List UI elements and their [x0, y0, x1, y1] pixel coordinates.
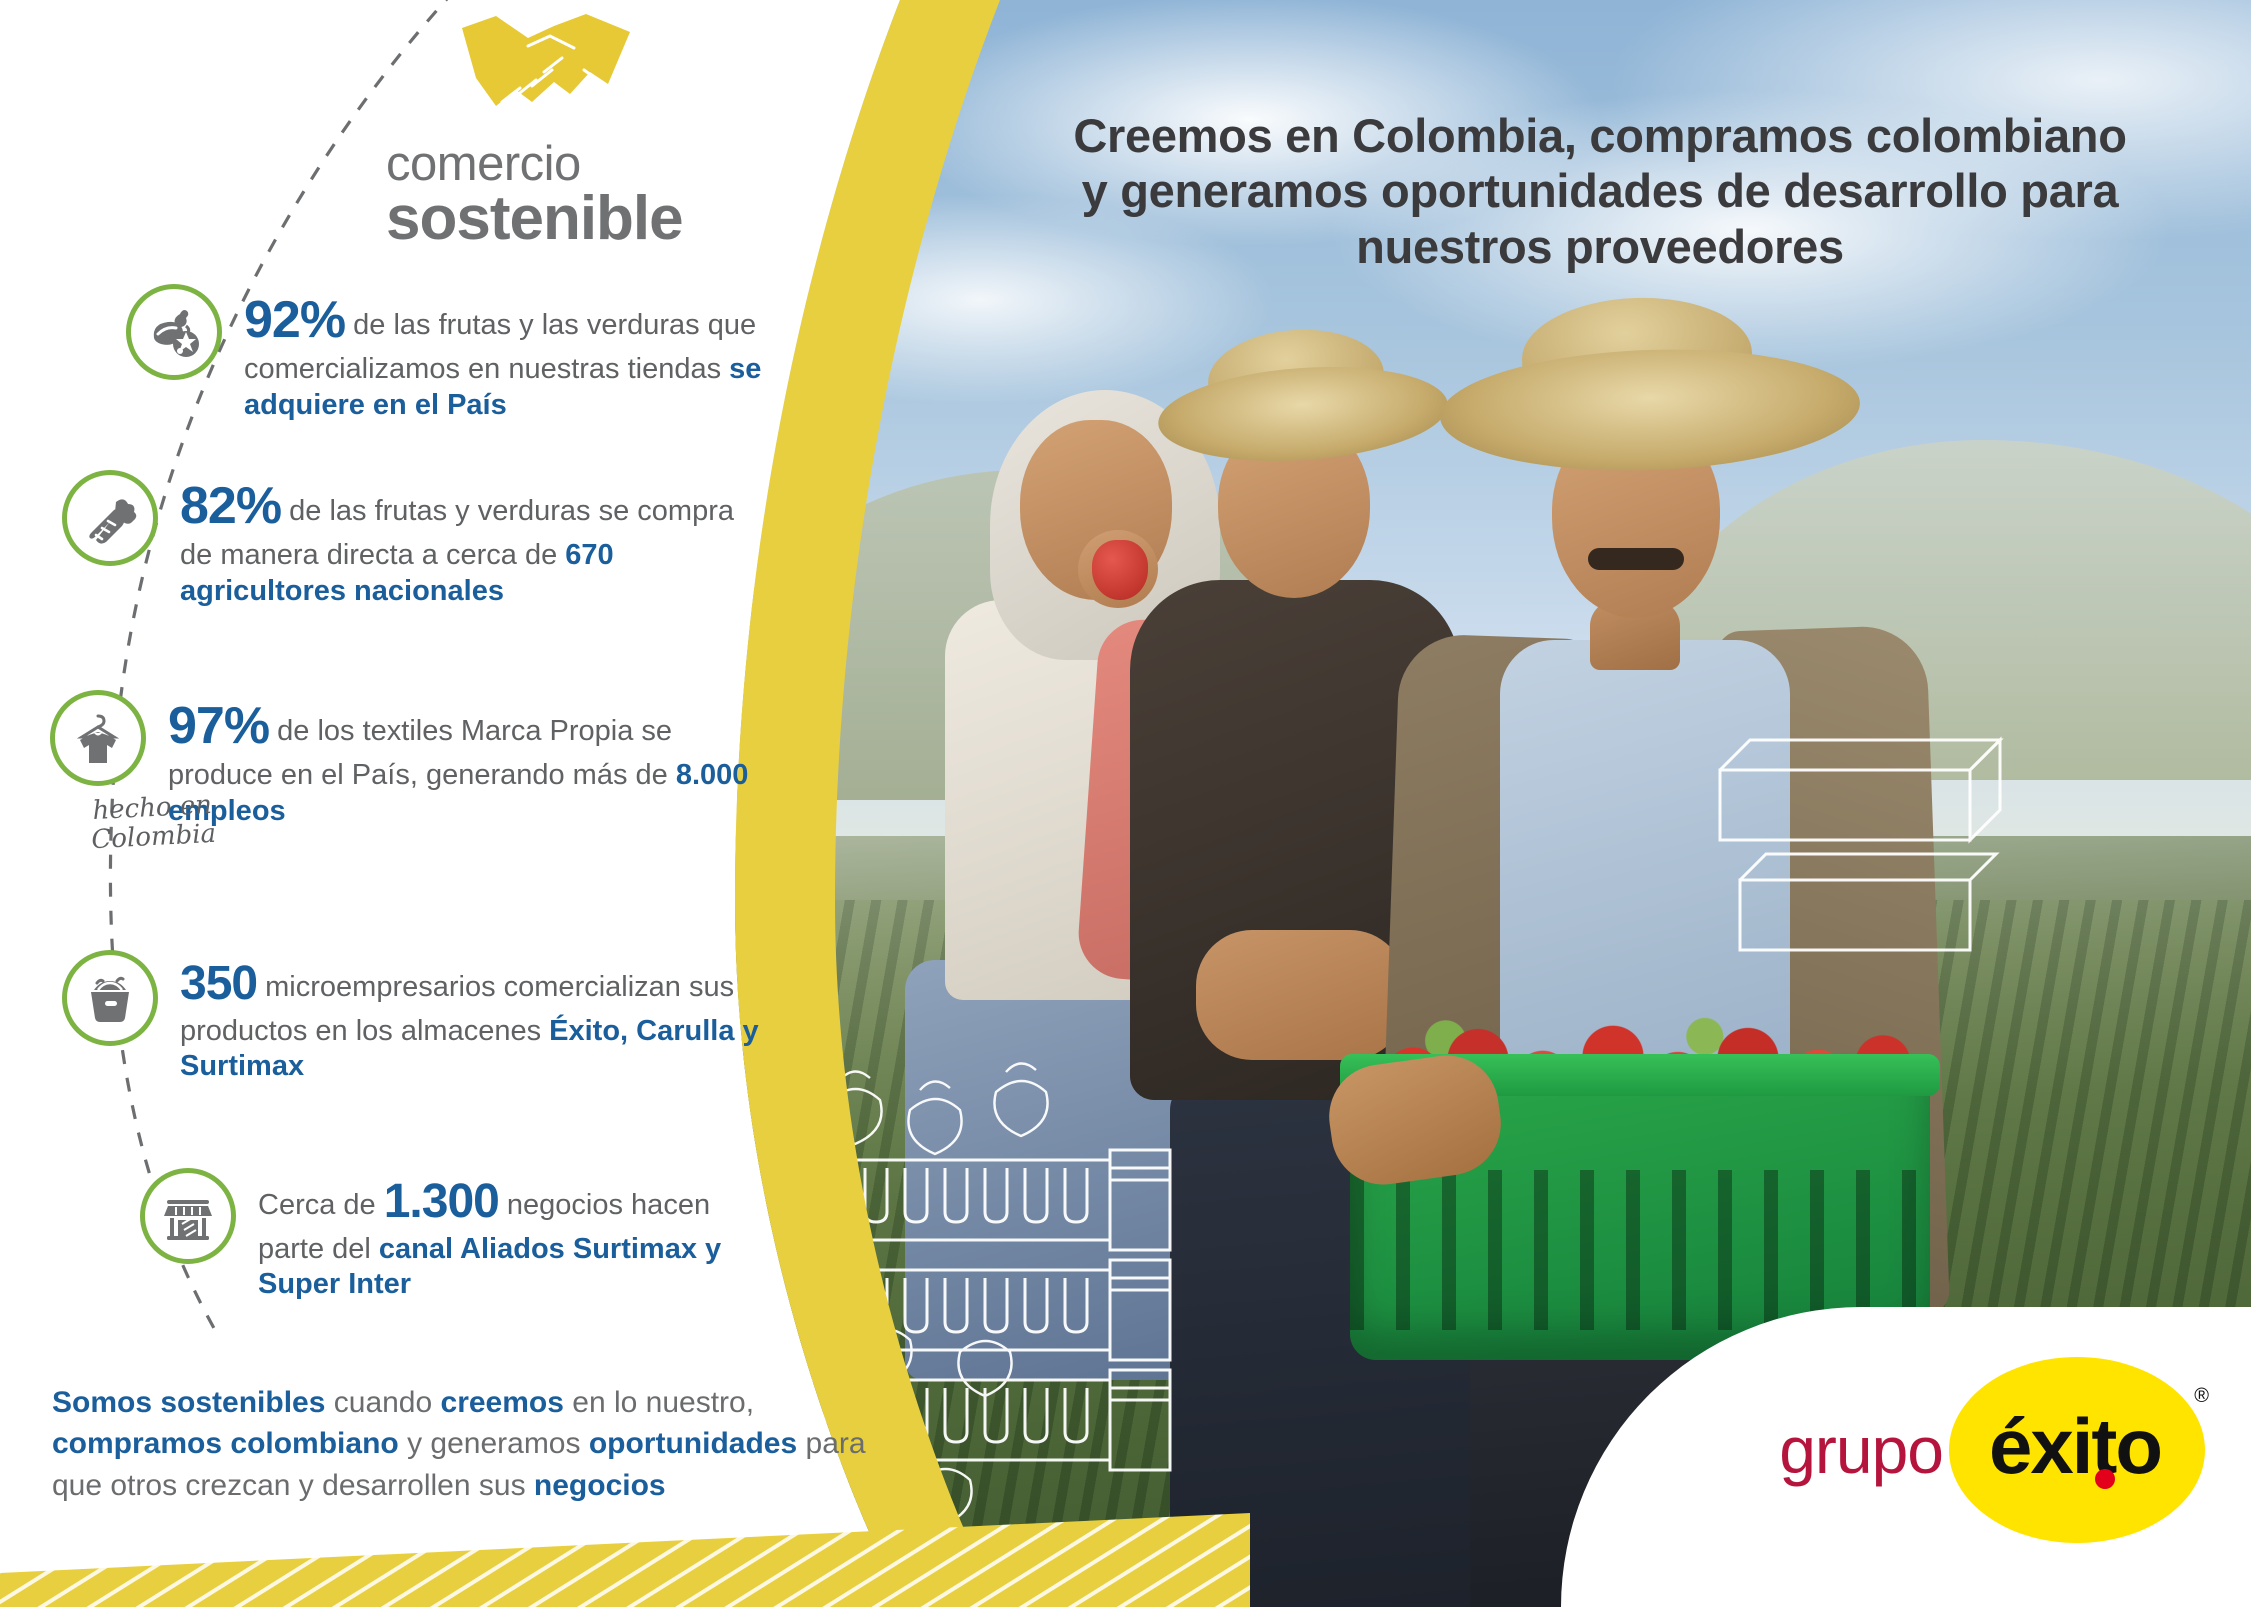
- infographic-page: Creemos en Colombia, compramos colombian…: [0, 0, 2251, 1607]
- left-stats-panel: comercio sostenible: [0, 0, 860, 1607]
- exito-red-dot: [2095, 1469, 2115, 1489]
- exito-wordmark: éxito: [1989, 1407, 2161, 1485]
- headline-line-1: Creemos en Colombia, compramos colombian…: [1010, 108, 2190, 163]
- stat-item-97[interactable]: hecho en Colombia 97% de los textiles Ma…: [50, 690, 750, 830]
- carrot-icon: [62, 470, 158, 566]
- comercio-sostenible-logo: comercio sostenible: [380, 10, 760, 250]
- stat-text-82: 82% de las frutas y verduras se compra d…: [180, 470, 742, 610]
- man-mustache: [1588, 548, 1684, 570]
- basket-icon: [62, 950, 158, 1046]
- registered-mark: ®: [2194, 1385, 2209, 1408]
- crate-holes: [1350, 1170, 1930, 1330]
- stat-text-350: 350 microempresarios comercializan sus p…: [180, 950, 762, 1085]
- headline: Creemos en Colombia, compramos colombian…: [1010, 108, 2190, 274]
- stat-text-92: 92% de las frutas y las verduras que com…: [244, 284, 766, 424]
- vegetables-glyph: [144, 302, 204, 362]
- exito-badge: éxito ®: [1949, 1357, 2205, 1543]
- stat-item-82[interactable]: 82% de las frutas y verduras se compra d…: [62, 470, 742, 610]
- hecho-en-colombia-caption: hecho en Colombia: [77, 790, 230, 856]
- storefront-icon: [140, 1168, 236, 1264]
- stat-text-97: 97% de los textiles Marca Propia se prod…: [168, 690, 750, 830]
- vegetables-icon: [126, 284, 222, 380]
- stat-item-92[interactable]: 92% de las frutas y las verduras que com…: [126, 284, 766, 424]
- headline-line-3: nuestros proveedores: [1010, 219, 2190, 274]
- logo-line-1: comercio: [386, 140, 760, 188]
- tshirt-glyph: [68, 708, 128, 768]
- logo-line-2: sostenible: [386, 188, 760, 250]
- tshirt-hanger-icon: [50, 690, 146, 786]
- basket-glyph: [80, 968, 140, 1028]
- grupo-wordmark: grupo: [1779, 1417, 1943, 1483]
- headline-line-2: y generamos oportunidades de desarrollo …: [1010, 163, 2190, 218]
- carrot-glyph: [80, 488, 140, 548]
- handshake-icon: [458, 10, 634, 134]
- yellow-striped-band: [0, 1477, 1250, 1607]
- stat-item-1300[interactable]: Cerca de 1.300 negocios hacen parte del …: [140, 1168, 780, 1303]
- stat-text-1300: Cerca de 1.300 negocios hacen parte del …: [258, 1168, 780, 1303]
- stat-item-350[interactable]: 350 microempresarios comercializan sus p…: [62, 950, 762, 1085]
- strawberry-in-hand: [1092, 540, 1148, 600]
- storefront-glyph: [158, 1186, 218, 1246]
